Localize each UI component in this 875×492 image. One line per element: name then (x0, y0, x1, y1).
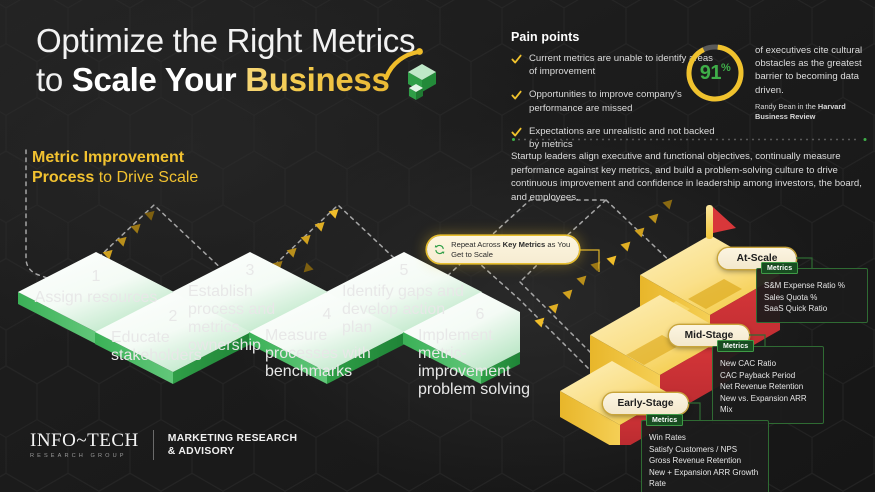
logo-divider (153, 430, 154, 460)
metric-item: CAC Payback Period (720, 370, 816, 382)
metric-item: S&M Expense Ratio % (764, 280, 860, 292)
metrics-box-mid-stage: Metrics New CAC Ratio CAC Payback Period… (712, 346, 824, 424)
infographic-canvas: Optimize the Right Metrics to Scale Your… (0, 0, 875, 492)
tagline-line-2: & ADVISORY (168, 445, 298, 458)
metric-item: New CAC Ratio (720, 358, 816, 370)
footer-logo: INFO~TECH RESEARCH GROUP MARKETING RESEA… (30, 430, 297, 460)
metric-item: New + Expansion ARR Growth Rate (649, 467, 761, 490)
metric-item: Net Revenue Retention (720, 381, 816, 393)
logo-subtitle: RESEARCH GROUP (30, 452, 139, 460)
metric-item: Sales Quota % (764, 292, 860, 304)
metric-item: New vs. Expansion ARR Mix (720, 393, 816, 416)
metric-item: Win Rates (649, 432, 761, 444)
metrics-tag: Metrics (761, 262, 798, 274)
tagline-line-1: MARKETING RESEARCH (168, 432, 298, 445)
logo-tagline: MARKETING RESEARCH & ADVISORY (168, 432, 298, 458)
metrics-tag: Metrics (646, 414, 683, 426)
metrics-tag: Metrics (717, 340, 754, 352)
metric-item: SaaS Quick Ratio (764, 303, 860, 315)
logo-wordmark: INFO~TECH (30, 430, 139, 451)
metrics-box-at-scale: Metrics S&M Expense Ratio % Sales Quota … (756, 268, 868, 323)
metric-item: Gross Revenue Retention (649, 455, 761, 467)
metrics-box-early-stage: Metrics Win Rates Satisfy Customers / NP… (641, 420, 769, 492)
logo-brand: INFO~TECH RESEARCH GROUP (30, 430, 139, 460)
metric-item: Satisfy Customers / NPS (649, 444, 761, 456)
